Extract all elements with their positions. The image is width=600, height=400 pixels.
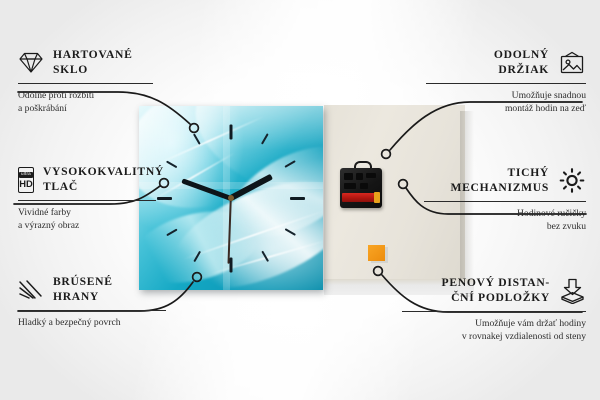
clock-tick xyxy=(157,197,172,200)
foam-spacer-pad xyxy=(368,245,385,261)
battery-terminal xyxy=(374,192,380,203)
feature-high-quality-print: ultra HD VYSOKOKVALITNÝ TLAČ Vividné far… xyxy=(18,165,156,233)
divider xyxy=(18,83,153,84)
badge-hd-label: HD xyxy=(19,179,33,188)
badge-ultra-label: ultra xyxy=(19,172,33,178)
picture-frame-hanger-icon xyxy=(558,51,586,75)
infographic-canvas: HARTOVANÉ SKLO Odolné proti rozbití a po… xyxy=(0,0,600,400)
mechanism-battery xyxy=(342,193,378,202)
feature-title-line1: ODOLNÝ xyxy=(494,48,549,63)
foam-spacer-arrow-icon xyxy=(559,278,586,304)
feature-beveled-edges: BRÚSENÉ HRANY Hladký a bezpečný povrch xyxy=(18,275,166,329)
feature-durable-hanger: ODOLNÝ DRŽIAK Umožňuje snadnou montáž ho… xyxy=(426,48,586,116)
feature-desc-line1: Umožňuje vám držať hodiny xyxy=(402,317,586,331)
clock-tick xyxy=(230,257,233,272)
feature-foam-spacers: PENOVÝ DISTAN- ČNÍ PODLOŽKY Umožňuje vám… xyxy=(402,276,586,344)
feature-title-line1: BRÚSENÉ xyxy=(53,275,113,290)
feature-desc-line1: Hladký a bezpečný povrch xyxy=(18,316,166,330)
feature-desc-line1: Umožňuje snadnou xyxy=(426,89,586,103)
gear-icon xyxy=(558,167,586,194)
feature-title-line2: HRANY xyxy=(53,290,113,305)
feature-desc-line2: montáž hodin na zeď xyxy=(426,102,586,116)
diamond-icon xyxy=(18,51,44,74)
divider xyxy=(18,310,166,311)
beveled-edges-icon xyxy=(18,279,44,301)
feature-title-line2: MECHANIZMUS xyxy=(450,181,549,196)
feature-desc-line2: a poškrábání xyxy=(18,102,153,116)
feature-title-line1: TICHÝ xyxy=(450,166,549,181)
ultra-hd-badge-icon: ultra HD xyxy=(18,167,34,193)
feature-title-line2: TLAČ xyxy=(43,180,164,195)
divider xyxy=(402,311,586,312)
mechanism-detail xyxy=(366,173,376,178)
divider xyxy=(424,201,586,202)
feature-desc-line2: bez zvuku xyxy=(424,220,586,234)
clock-tick xyxy=(290,197,305,200)
divider xyxy=(18,200,156,201)
feature-title-line1: HARTOVANÉ xyxy=(53,48,133,63)
feature-tempered-glass: HARTOVANÉ SKLO Odolné proti rozbití a po… xyxy=(18,48,153,116)
mechanism-detail xyxy=(344,183,356,189)
divider xyxy=(426,83,586,84)
mechanism-detail xyxy=(344,173,353,180)
clock-tick xyxy=(230,124,233,139)
feature-title-line1: PENOVÝ DISTAN- xyxy=(442,276,550,291)
feature-desc-line1: Odolné proti rozbití xyxy=(18,89,153,103)
mechanism-detail xyxy=(356,173,363,180)
feature-title-line2: DRŽIAK xyxy=(494,63,549,78)
mechanism-detail xyxy=(360,183,368,189)
glass-reflection-seam xyxy=(139,182,323,189)
feature-desc-line1: Vividné farby xyxy=(18,206,156,220)
product-photo xyxy=(135,103,465,295)
feature-title-line2: SKLO xyxy=(53,63,133,78)
glass-clock-face xyxy=(139,106,323,290)
feature-silent-mechanism: TICHÝ MECHANIZMUS Hodinové ručičky bez z… xyxy=(424,166,586,234)
feature-desc-line1: Hodinové ručičky xyxy=(424,207,586,221)
feature-desc-line2: v rovnakej vzdialenosti od steny xyxy=(402,330,586,344)
feature-desc-line2: a výrazný obraz xyxy=(18,219,156,233)
clock-center-cap xyxy=(228,195,234,201)
feature-title-line1: VYSOKOKVALITNÝ xyxy=(43,165,164,180)
feature-title-line2: ČNÍ PODLOŽKY xyxy=(442,291,550,306)
